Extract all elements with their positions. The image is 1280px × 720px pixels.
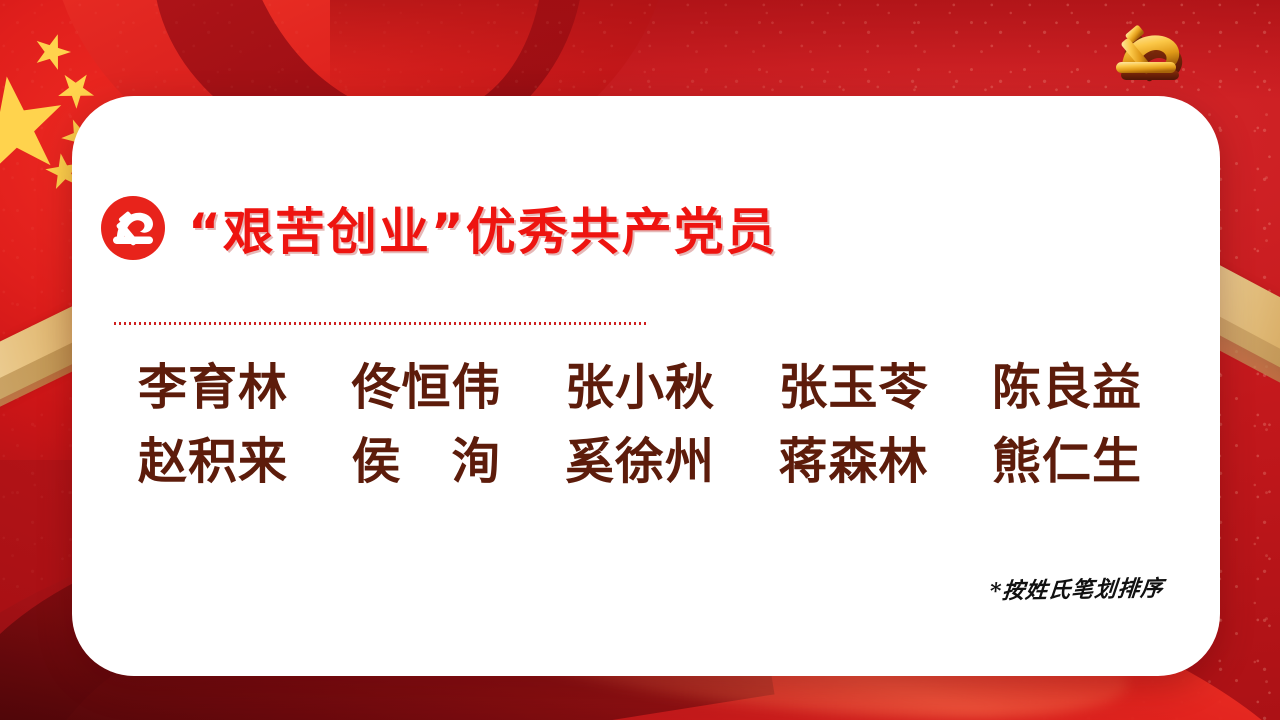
content-card: “艰苦创业”优秀共产党员 李育林 佟恒伟 张小秋 张玉苓 陈良益 赵积来 侯 洵… (72, 96, 1220, 676)
party-emblem-gold-icon (1092, 12, 1218, 104)
honoree-name: 熊仁生 (992, 428, 1142, 496)
title-row: “艰苦创业”优秀共产党员 (100, 192, 778, 264)
honoree-name: 赵积来 (138, 428, 288, 496)
divider (114, 322, 646, 325)
name-row-2: 赵积来 侯 洵 奚徐州 蒋森林 熊仁生 (120, 428, 1160, 496)
honoree-name: 张玉苓 (778, 354, 928, 422)
page-title: “艰苦创业”优秀共产党员 (188, 192, 778, 264)
honoree-name: 李育林 (138, 354, 288, 422)
honoree-name: 侯 洵 (351, 428, 501, 496)
honoree-name: 蒋森林 (778, 428, 928, 496)
honoree-name: 佟恒伟 (351, 354, 501, 422)
honoree-name: 奚徐州 (565, 428, 715, 496)
slide-root: “艰苦创业”优秀共产党员 李育林 佟恒伟 张小秋 张玉苓 陈良益 赵积来 侯 洵… (0, 0, 1280, 720)
footnote: *按姓氏笔划排序 (989, 570, 1166, 605)
hammer-and-sickle-icon (100, 195, 166, 261)
honoree-name: 张小秋 (565, 354, 715, 422)
honoree-name: 陈良益 (992, 354, 1142, 422)
name-row-1: 李育林 佟恒伟 张小秋 张玉苓 陈良益 (120, 354, 1160, 422)
honoree-name-list: 李育林 佟恒伟 张小秋 张玉苓 陈良益 赵积来 侯 洵 奚徐州 蒋森林 熊仁生 (120, 354, 1160, 501)
